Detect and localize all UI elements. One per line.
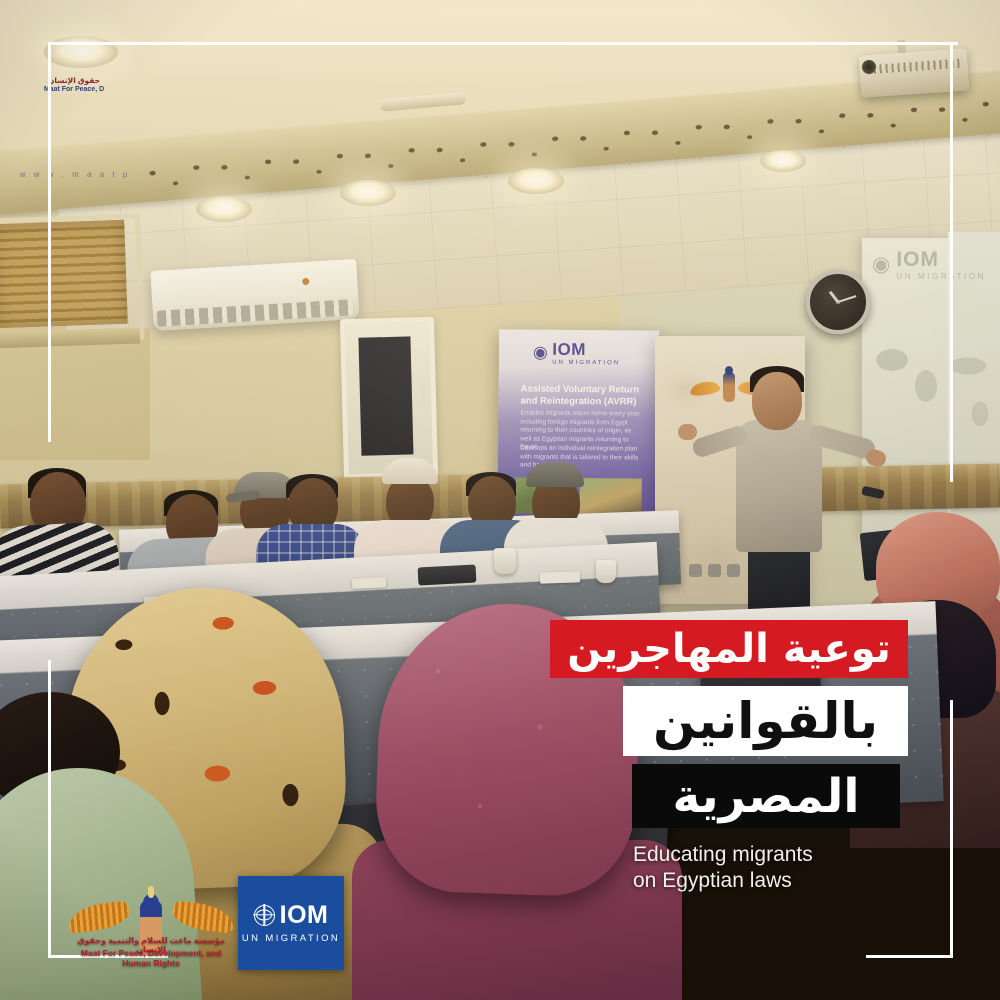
headline-line-2: بالقوانين	[623, 686, 908, 756]
paper-sheet	[540, 571, 580, 583]
goddess-body	[723, 372, 735, 402]
goddess-head	[725, 366, 733, 375]
ceiling-downlight	[44, 36, 118, 68]
maat-banner-english-text: Maat For Peace, D	[18, 86, 130, 93]
poster-canvas: ◉ IOM UN MIGRATION	[0, 0, 1000, 1000]
screen-watermark-subtext: UN MIGRATION	[896, 272, 986, 281]
speaker-head	[752, 372, 802, 430]
iom-logo-row: IOM	[254, 903, 329, 928]
banner-iom-logo-text: IOM	[552, 340, 586, 359]
goddess-crown	[148, 886, 154, 898]
screen-iom-watermark: ◉ IOM UN MIGRATION	[872, 248, 1000, 281]
facebook-icon	[689, 564, 702, 577]
window-glass	[358, 336, 413, 455]
instagram-icon	[727, 564, 740, 577]
headline-line-3: المصرية	[632, 764, 900, 828]
paper-sheet	[352, 577, 386, 589]
ceiling-downlight	[340, 180, 396, 206]
banner-iom-globe-icon: ◉	[533, 343, 549, 363]
subtitle-line-1: Educating migrants	[633, 842, 933, 868]
attendee-cap-icon	[526, 462, 584, 487]
speaker-left-hand	[678, 424, 697, 440]
subtitle-line-2: on Egyptian laws	[633, 868, 933, 894]
maat-banner-social-icons	[689, 564, 740, 577]
blinds-frame	[0, 213, 144, 344]
globe-ellipse	[256, 910, 272, 921]
iom-logo: IOM UN MIGRATION	[238, 876, 344, 970]
banner-iom-logo-subtext: UN MIGRATION	[552, 360, 620, 367]
document-folder	[418, 564, 477, 585]
maat-banner-url: w w w . m a a t p	[10, 170, 140, 179]
iom-logo-name: IOM	[280, 903, 329, 928]
screen-watermark-globe-icon: ◉	[872, 252, 891, 277]
goddess-wing-right	[171, 900, 236, 933]
banner-iom-heading: Assisted Voluntary Return and Reintegrat…	[520, 383, 644, 408]
maat-logo: مؤسسة ماعت للسلام والتنمية وحقوق الإنسان…	[66, 876, 236, 972]
english-subtitle: Educating migrants on Egyptian laws	[633, 842, 933, 894]
banner-iom-logo: ◉ IOM UN MIGRATION	[533, 340, 620, 367]
ceiling-downlight	[508, 168, 564, 194]
paper-cup	[494, 548, 517, 575]
window-icon	[340, 317, 438, 479]
ceiling-projector-icon	[859, 48, 970, 97]
goddess-wing-left	[67, 900, 132, 933]
banner-iom-photo-2	[580, 478, 642, 515]
un-globe-icon	[254, 905, 275, 926]
ceiling-downlight	[196, 196, 252, 222]
iom-logo-tagline: UN MIGRATION	[242, 933, 340, 944]
window-handle	[421, 384, 427, 406]
screen-watermark-text: IOM	[896, 248, 939, 271]
winged-goddess-icon	[66, 898, 236, 938]
split-air-conditioner-icon	[150, 259, 359, 331]
goddess-wing-left	[689, 380, 721, 398]
wall-clock-icon	[806, 270, 870, 334]
maat-banner-arabic-text: حقوق الإنسان	[22, 76, 126, 85]
headline-line-1: توعية المهاجرين	[550, 620, 908, 678]
clock-ticks	[814, 278, 862, 326]
ac-led-indicator	[302, 278, 309, 285]
paper-cup	[596, 560, 616, 583]
ceiling-downlight	[760, 150, 806, 172]
maat-logo-english-text: Maat For Peace, Development, and Human R…	[66, 948, 236, 968]
screen-world-map-graphic	[868, 330, 1000, 460]
twitter-icon	[708, 564, 721, 577]
projector-lens-icon	[862, 60, 876, 74]
